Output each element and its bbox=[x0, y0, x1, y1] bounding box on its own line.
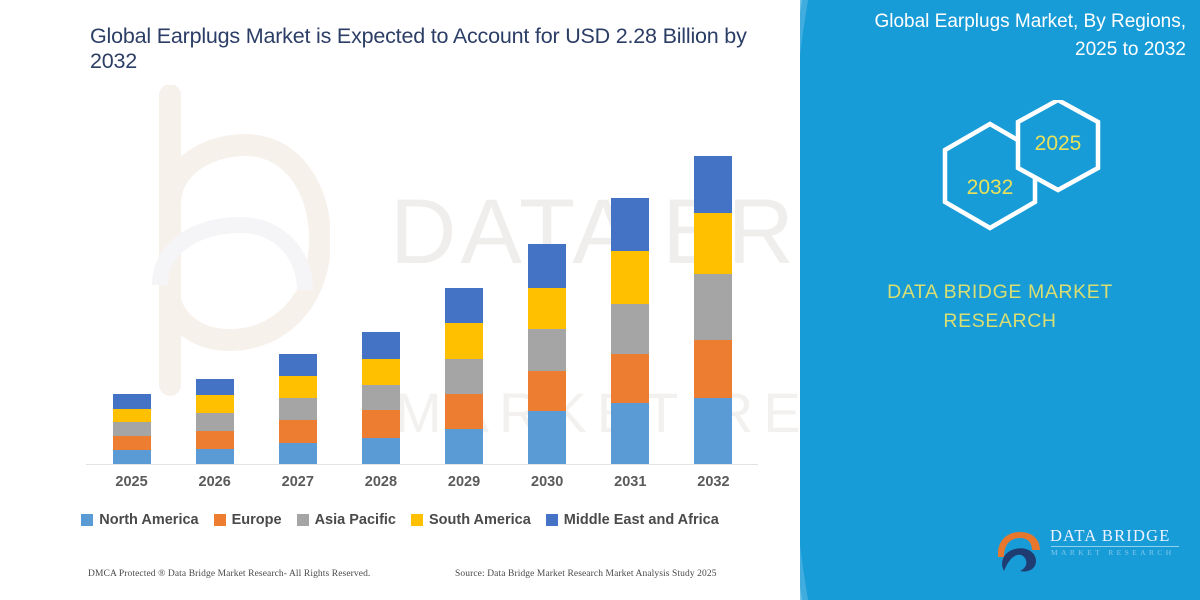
bar-column-2028 bbox=[362, 332, 400, 465]
legend-item-south-america[interactable]: South America bbox=[411, 512, 531, 528]
legend-swatch-icon bbox=[546, 514, 558, 526]
logo-divider bbox=[1051, 546, 1179, 547]
bar-segment bbox=[445, 323, 483, 359]
bar-segment bbox=[694, 156, 732, 213]
bar-segment bbox=[694, 274, 732, 340]
bar-segment bbox=[362, 438, 400, 465]
panel-title-line2: 2025 to 2032 bbox=[1075, 39, 1186, 60]
bar-segment bbox=[362, 359, 400, 385]
bar-segment bbox=[694, 213, 732, 274]
hexagon-shapes bbox=[800, 100, 1200, 250]
legend-item-middle-east-and-africa[interactable]: Middle East and Africa bbox=[546, 512, 719, 528]
x-axis-label-2028: 2028 bbox=[339, 474, 422, 490]
bar-segment bbox=[279, 354, 317, 376]
legend-item-asia-pacific[interactable]: Asia Pacific bbox=[297, 512, 396, 528]
x-axis-label-2032: 2032 bbox=[672, 474, 755, 490]
panel-title: Global Earplugs Market, By Regions, 2025… bbox=[846, 8, 1186, 63]
bar-segment bbox=[528, 244, 566, 288]
bar-segment bbox=[528, 411, 566, 465]
bar-segment bbox=[694, 340, 732, 398]
x-axis-label-2030: 2030 bbox=[506, 474, 589, 490]
hexagon-2032-label: 2032 bbox=[945, 176, 1035, 200]
infographic-root: DATA BRIDGE MARKET RESEARCH Global Earpl… bbox=[0, 0, 1200, 600]
brand-line2: RESEARCH bbox=[943, 310, 1056, 332]
bar-segment bbox=[279, 420, 317, 443]
bar-segment bbox=[362, 385, 400, 410]
chart-panel: DATA BRIDGE MARKET RESEARCH Global Earpl… bbox=[0, 0, 800, 600]
bar-segment bbox=[362, 410, 400, 438]
x-axis-label-2026: 2026 bbox=[173, 474, 256, 490]
legend-label: North America bbox=[99, 512, 198, 528]
legend-item-north-america[interactable]: North America bbox=[81, 512, 198, 528]
x-axis: 20252026202720282029203020312032 bbox=[90, 474, 755, 498]
bar-segment bbox=[279, 376, 317, 398]
x-axis-label-2027: 2027 bbox=[256, 474, 339, 490]
bar-segment bbox=[445, 359, 483, 394]
legend-label: Middle East and Africa bbox=[564, 512, 719, 528]
data-bridge-logo-icon bbox=[990, 524, 1044, 574]
bar-column-2029 bbox=[445, 288, 483, 465]
legend-item-europe[interactable]: Europe bbox=[214, 512, 282, 528]
bar-segment bbox=[196, 449, 234, 465]
footer-copyright: DMCA Protected ® Data Bridge Market Rese… bbox=[88, 569, 370, 579]
bar-segment bbox=[113, 422, 151, 436]
bar-segment bbox=[362, 332, 400, 359]
bar-segment bbox=[279, 443, 317, 465]
legend-swatch-icon bbox=[214, 514, 226, 526]
hexagon-group: 2032 2025 bbox=[800, 100, 1200, 250]
bar-segment bbox=[113, 409, 151, 422]
legend-label: South America bbox=[429, 512, 531, 528]
legend-swatch-icon bbox=[297, 514, 309, 526]
bar-segment bbox=[611, 354, 649, 403]
logo-subtitle: MARKET RESEARCH bbox=[1051, 548, 1175, 557]
bar-column-2027 bbox=[279, 354, 317, 465]
logo-name: DATA BRIDGE bbox=[1050, 526, 1171, 546]
bar-segment bbox=[196, 395, 234, 413]
bar-segment bbox=[196, 431, 234, 449]
legend-swatch-icon bbox=[81, 514, 93, 526]
footer-source: Source: Data Bridge Market Research Mark… bbox=[455, 569, 717, 579]
bar-segment bbox=[445, 429, 483, 465]
bar-segment bbox=[611, 198, 649, 251]
bar-column-2032 bbox=[694, 156, 732, 465]
company-logo: DATA BRIDGE MARKET RESEARCH bbox=[990, 524, 1190, 576]
bar-segment bbox=[611, 251, 649, 304]
bar-segment bbox=[196, 379, 234, 395]
bar-segment bbox=[445, 288, 483, 323]
hexagon-2025-label: 2025 bbox=[1018, 132, 1098, 156]
x-axis-label-2031: 2031 bbox=[589, 474, 672, 490]
bar-segment bbox=[445, 394, 483, 429]
bar-segment bbox=[279, 398, 317, 420]
plot-area bbox=[90, 60, 755, 465]
legend-label: Europe bbox=[232, 512, 282, 528]
bar-segment bbox=[611, 403, 649, 465]
bar-segment bbox=[611, 304, 649, 354]
bar-segment bbox=[196, 413, 234, 431]
bar-column-2025 bbox=[113, 394, 151, 465]
bar-segment bbox=[113, 436, 151, 450]
bar-segment bbox=[528, 371, 566, 411]
x-axis-label-2029: 2029 bbox=[423, 474, 506, 490]
bar-segment bbox=[694, 398, 732, 465]
bar-column-2026 bbox=[196, 379, 234, 465]
bar-segment bbox=[113, 450, 151, 465]
bar-column-2031 bbox=[611, 198, 649, 465]
chart-title: Global Earplugs Market is Expected to Ac… bbox=[90, 24, 790, 74]
x-axis-label-2025: 2025 bbox=[90, 474, 173, 490]
bar-column-2030 bbox=[528, 244, 566, 465]
brand-title: DATA BRIDGE MARKET RESEARCH bbox=[800, 278, 1200, 337]
chart-legend: North AmericaEuropeAsia PacificSouth Ame… bbox=[0, 512, 800, 528]
branding-panel: Global Earplugs Market, By Regions, 2025… bbox=[800, 0, 1200, 600]
bar-segment bbox=[528, 288, 566, 329]
legend-swatch-icon bbox=[411, 514, 423, 526]
brand-line1: DATA BRIDGE MARKET bbox=[887, 281, 1113, 303]
axis-baseline bbox=[86, 464, 758, 465]
bar-segment bbox=[528, 329, 566, 371]
panel-title-line1: Global Earplugs Market, By Regions, bbox=[874, 11, 1186, 32]
legend-label: Asia Pacific bbox=[315, 512, 396, 528]
bar-segment bbox=[113, 394, 151, 409]
